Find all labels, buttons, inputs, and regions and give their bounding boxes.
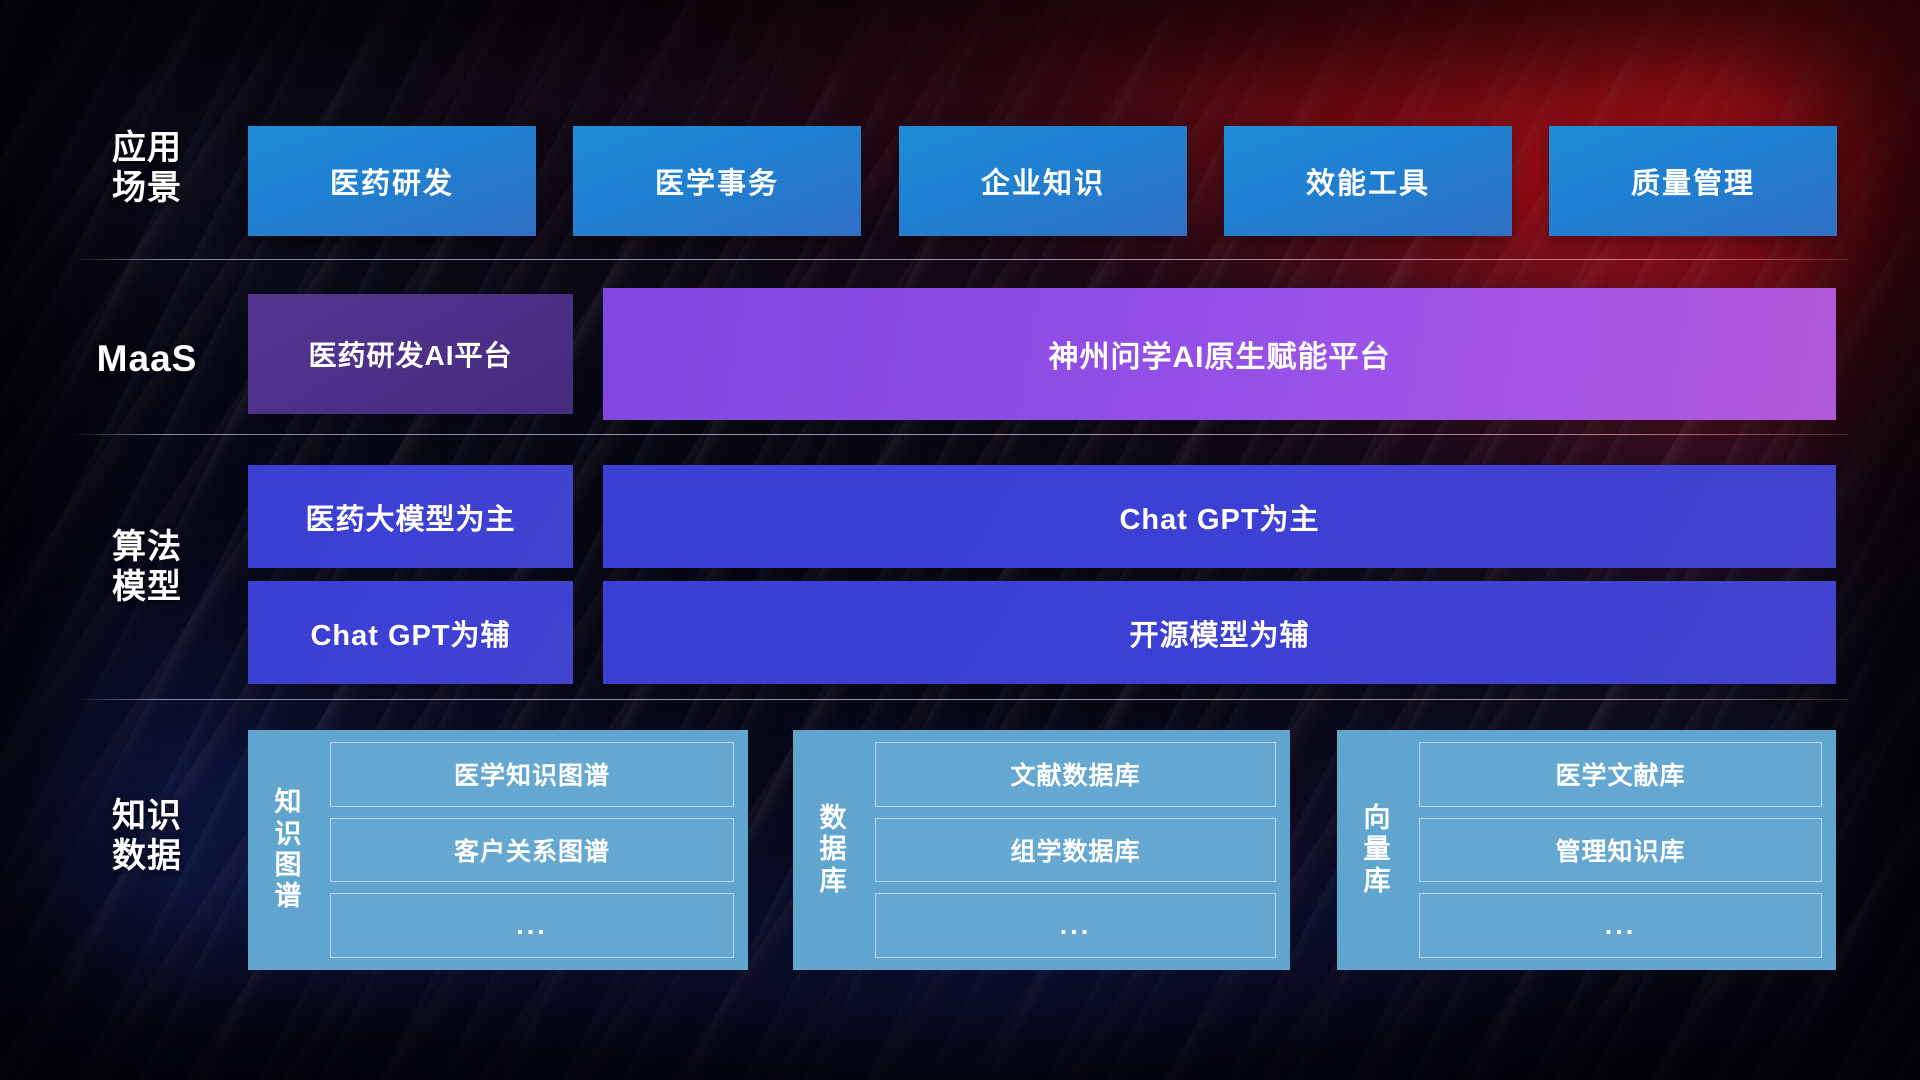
knowledge-item-label: ... [1060, 910, 1092, 941]
vertical-label-char: 图 [275, 850, 302, 881]
scenario-box-1[interactable]: 医药研发 [248, 126, 536, 236]
knowledge-item-label: 客户关系图谱 [454, 832, 610, 868]
row-label-application-scenarios: 应用 场景 [72, 128, 222, 208]
maas-right-box[interactable]: 神州问学AI原生赋能平台 [603, 288, 1836, 420]
algorithm-box-label: 开源模型为辅 [1129, 612, 1309, 654]
divider-2 [72, 434, 1848, 435]
knowledge-group-items: 文献数据库 组学数据库 ... [875, 742, 1276, 958]
scenario-box-label: 质量管理 [1631, 160, 1755, 202]
knowledge-item-label: 管理知识库 [1555, 832, 1685, 868]
row-label-algorithm-models: 算法 模型 [72, 527, 222, 607]
scenario-box-2[interactable]: 医学事务 [573, 126, 861, 236]
algorithm-box-label: 医药大模型为主 [305, 496, 515, 538]
knowledge-item[interactable]: 客户关系图谱 [330, 818, 734, 883]
vertical-label-char: 识 [275, 819, 302, 850]
row-label-line: 场景 [72, 168, 222, 208]
vertical-label-char: 库 [820, 866, 847, 897]
row-label-line: 算法 [72, 527, 222, 567]
knowledge-item-more[interactable]: ... [875, 893, 1276, 958]
scenario-box-label: 医药研发 [330, 160, 454, 202]
scenario-box-4[interactable]: 效能工具 [1224, 126, 1512, 236]
knowledge-item[interactable]: 组学数据库 [875, 818, 1276, 883]
algorithm-box-left-1[interactable]: 医药大模型为主 [248, 465, 573, 568]
knowledge-group-database[interactable]: 数 据 库 文献数据库 组学数据库 ... [793, 730, 1290, 970]
row-label-line: 模型 [72, 567, 222, 607]
vertical-label-char: 数 [820, 803, 847, 834]
knowledge-item[interactable]: 医学知识图谱 [330, 742, 734, 807]
knowledge-item-label: 医学文献库 [1555, 756, 1685, 792]
vertical-label-char: 向 [1364, 803, 1391, 834]
maas-right-label: 神州问学AI原生赋能平台 [1049, 332, 1391, 376]
row-label-maas: MaaS [72, 337, 222, 381]
slide-canvas: 应用 场景 医药研发 医学事务 企业知识 效能工具 质量管理 MaaS 医药研发… [0, 0, 1920, 1080]
scenario-box-3[interactable]: 企业知识 [899, 126, 1187, 236]
knowledge-item-label: ... [1605, 910, 1637, 941]
vertical-label-char: 库 [1364, 866, 1391, 897]
row-label-line: 数据 [72, 836, 222, 876]
knowledge-item-label: ... [516, 910, 548, 941]
knowledge-group-vertical-label: 数 据 库 [803, 742, 863, 958]
knowledge-item[interactable]: 医学文献库 [1419, 742, 1822, 807]
algorithm-box-left-2[interactable]: Chat GPT为辅 [248, 581, 573, 684]
knowledge-group-items: 医学文献库 管理知识库 ... [1419, 742, 1822, 958]
algorithm-box-right-2[interactable]: 开源模型为辅 [603, 581, 1836, 684]
knowledge-item-label: 文献数据库 [1010, 756, 1140, 792]
divider-3 [72, 699, 1848, 700]
knowledge-item-label: 医学知识图谱 [454, 756, 610, 792]
row-label-knowledge-data: 知识 数据 [72, 796, 222, 876]
algorithm-box-label: Chat GPT为主 [1119, 496, 1319, 538]
maas-left-box[interactable]: 医药研发AI平台 [248, 294, 573, 414]
scenario-box-label: 效能工具 [1306, 160, 1430, 202]
row-label-line: 应用 [72, 128, 222, 168]
row-label-line: 知识 [72, 796, 222, 836]
knowledge-group-vertical-label: 向 量 库 [1347, 742, 1407, 958]
scenario-box-label: 医学事务 [655, 160, 779, 202]
knowledge-item-more[interactable]: ... [1419, 893, 1822, 958]
algorithm-box-right-1[interactable]: Chat GPT为主 [603, 465, 1836, 568]
algorithm-box-label: Chat GPT为辅 [310, 612, 510, 654]
vertical-label-char: 据 [820, 834, 847, 865]
scenario-box-5[interactable]: 质量管理 [1549, 126, 1837, 236]
knowledge-group-knowledge-graph[interactable]: 知 识 图 谱 医学知识图谱 客户关系图谱 ... [248, 730, 748, 970]
vertical-label-char: 知 [275, 787, 302, 818]
knowledge-item-label: 组学数据库 [1010, 832, 1140, 868]
scenario-box-label: 企业知识 [981, 160, 1105, 202]
knowledge-group-vertical-label: 知 识 图 谱 [258, 742, 318, 958]
knowledge-item[interactable]: 文献数据库 [875, 742, 1276, 807]
knowledge-item[interactable]: 管理知识库 [1419, 818, 1822, 883]
maas-left-label: 医药研发AI平台 [308, 334, 512, 374]
knowledge-group-items: 医学知识图谱 客户关系图谱 ... [330, 742, 734, 958]
knowledge-item-more[interactable]: ... [330, 893, 734, 958]
divider-1 [72, 259, 1848, 260]
vertical-label-char: 谱 [275, 881, 302, 912]
vertical-label-char: 量 [1364, 834, 1391, 865]
diagram-content: 应用 场景 医药研发 医学事务 企业知识 效能工具 质量管理 MaaS 医药研发… [0, 0, 1920, 1080]
row-label-line: MaaS [72, 337, 222, 381]
knowledge-group-vector-store[interactable]: 向 量 库 医学文献库 管理知识库 ... [1337, 730, 1836, 970]
